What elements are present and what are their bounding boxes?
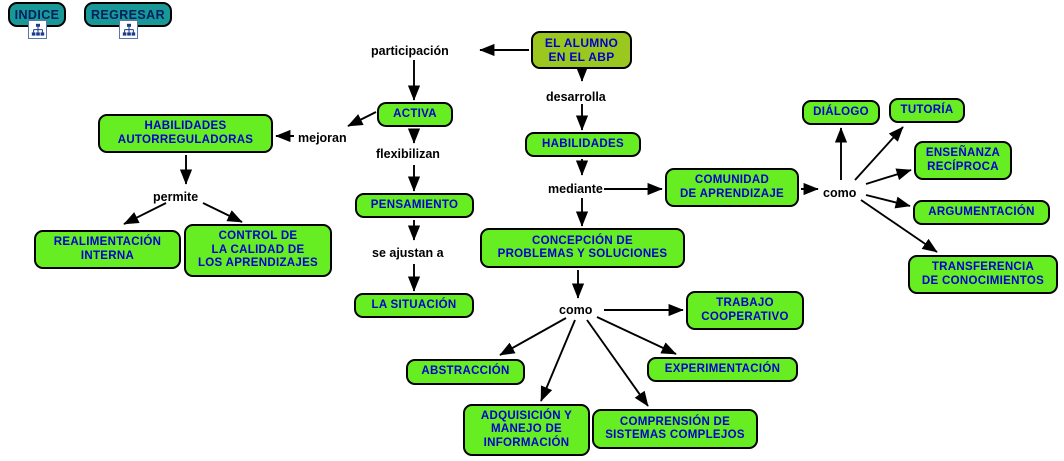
link-label-mediante: mediante [548,182,603,196]
edge-permite-control [203,203,242,222]
edge-como-right-ensenanza [866,170,911,184]
concept-node-ensenanza[interactable]: ENSEÑANZA RECÍPROCA [914,141,1012,180]
concept-node-transferencia[interactable]: TRANSFERENCIA DE CONOCIMIENTOS [908,255,1058,294]
concept-node-la_situacion[interactable]: LA SITUACIÓN [354,293,474,318]
link-label-desarrolla: desarrolla [546,90,606,104]
concept-node-habilidades_auto[interactable]: HABILIDADES AUTORREGULADORAS [98,114,273,153]
link-label-se_ajustan_a: se ajustan a [372,246,444,260]
concept-node-control[interactable]: CONTROL DE LA CALIDAD DE LOS APRENDIZAJE… [184,224,332,277]
edge-como-right-tutoria [855,127,903,180]
concept-node-argumentacion[interactable]: ARGUMENTACIÓN [913,200,1050,225]
concept-node-comprension[interactable]: COMPRENSIÓN DE SISTEMAS COMPLEJOS [592,409,758,449]
concept-map-canvas: INDICEREGRESAR EL ALUMNO EN EL ABPACTIVA… [0,0,1064,461]
link-label-como_right: como [823,186,856,200]
concept-node-concepcion[interactable]: CONCEPCIÓN DE PROBLEMAS Y SOLUCIONES [480,228,685,268]
edge-como-bottom-abstraccion [500,318,566,355]
concept-map-icon[interactable] [119,20,138,39]
link-label-mejoran: mejoran [298,131,347,145]
edge-como-bottom-comprension [587,320,648,406]
edge-como-bottom-adquisicion [541,320,575,401]
concept-node-habilidades[interactable]: HABILIDADES [525,132,641,157]
edge-activa-mejoran [348,112,376,126]
concept-node-comunidad[interactable]: COMUNIDAD DE APRENDIZAJE [665,168,799,207]
concept-node-experimentacion[interactable]: EXPERIMENTACIÓN [647,357,798,382]
edge-como-right-argumentacion [866,195,910,206]
edge-como-bottom-experimentacion [597,317,676,354]
link-label-como_bottom: como [559,303,592,317]
concept-node-trabajo[interactable]: TRABAJO COOPERATIVO [686,291,804,330]
concept-node-activa[interactable]: ACTIVA [377,102,453,127]
link-label-permite: permite [153,190,198,204]
edge-permite-realimentacion [124,203,166,224]
link-label-flexibilizan: flexibilizan [376,147,440,161]
link-label-participacion: participación [371,44,449,58]
concept-node-adquisicion[interactable]: ADQUISICIÓN Y MANEJO DE INFORMACIÓN [463,404,590,456]
concept-node-dialogo[interactable]: DIÁLOGO [802,100,880,125]
concept-map-icon[interactable] [28,20,47,39]
concept-node-root[interactable]: EL ALUMNO EN EL ABP [531,31,632,69]
concept-node-realimentacion[interactable]: REALIMENTACIÓN INTERNA [34,230,181,269]
concept-node-tutoria[interactable]: TUTORÍA [889,98,965,123]
concept-node-abstraccion[interactable]: ABSTRACCIÓN [406,359,525,385]
concept-node-pensamiento[interactable]: PENSAMIENTO [355,193,474,218]
